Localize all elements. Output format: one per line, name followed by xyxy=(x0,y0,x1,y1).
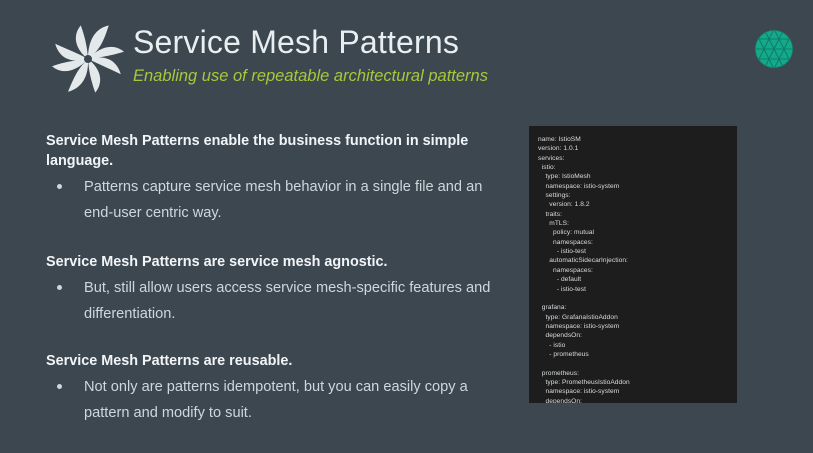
code-line: name: IstioSM xyxy=(538,135,737,144)
code-line: namespaces: xyxy=(538,238,737,247)
bullet-list: Not only are patterns idempotent, but yo… xyxy=(46,374,496,426)
title-block: Service Mesh Patterns Enabling use of re… xyxy=(133,22,488,88)
code-line: traits: xyxy=(538,210,737,219)
code-line xyxy=(538,359,737,368)
content-block-3: Service Mesh Patterns are reusable. Not … xyxy=(46,351,496,426)
code-line: prometheus: xyxy=(538,369,737,378)
code-line xyxy=(538,294,737,303)
code-line: istio: xyxy=(538,163,737,172)
bullet-list: Patterns capture service mesh behavior i… xyxy=(46,174,496,226)
content-column: Service Mesh Patterns enable the busines… xyxy=(46,131,496,426)
list-item: Not only are patterns idempotent, but yo… xyxy=(46,374,496,426)
slide-header: Service Mesh Patterns Enabling use of re… xyxy=(0,0,813,108)
lead-statement: Service Mesh Patterns enable the busines… xyxy=(46,131,496,171)
bullet-dot-icon xyxy=(57,285,62,290)
code-line: - prometheus xyxy=(538,350,737,359)
yaml-code-panel: name: IstioSMversion: 1.0.1services: ist… xyxy=(529,126,737,403)
code-line: type: IstioMesh xyxy=(538,172,737,181)
code-line: type: PrometheusIstioAddon xyxy=(538,378,737,387)
code-line: dependsOn: xyxy=(538,397,737,403)
spacer xyxy=(46,226,496,252)
code-line: type: GrafanaIstioAddon xyxy=(538,313,737,322)
lead-statement: Service Mesh Patterns are reusable. xyxy=(46,351,496,371)
code-line: - istio-test xyxy=(538,247,737,256)
code-line: - default xyxy=(538,275,737,284)
bullet-list: But, still allow users access service me… xyxy=(46,275,496,327)
code-line: namespaces: xyxy=(538,266,737,275)
lead-statement: Service Mesh Patterns are service mesh a… xyxy=(46,252,496,272)
code-line: version: 1.8.2 xyxy=(538,200,737,209)
code-line: settings: xyxy=(538,191,737,200)
yaml-code-lines: name: IstioSMversion: 1.0.1services: ist… xyxy=(529,126,737,403)
slide-canvas: Service Mesh Patterns Enabling use of re… xyxy=(0,0,813,453)
pinwheel-star-logo-icon xyxy=(48,19,128,99)
code-line: - istio-test xyxy=(538,285,737,294)
list-item-text: But, still allow users access service me… xyxy=(84,280,490,322)
list-item: But, still allow users access service me… xyxy=(46,275,496,327)
code-line: policy: mutual xyxy=(538,228,737,237)
bullet-dot-icon xyxy=(57,384,62,389)
code-line: namespace: istio-system xyxy=(538,182,737,191)
content-block-2: Service Mesh Patterns are service mesh a… xyxy=(46,252,496,327)
bullet-dot-icon xyxy=(57,184,62,189)
list-item-text: Patterns capture service mesh behavior i… xyxy=(84,179,482,221)
list-item: Patterns capture service mesh behavior i… xyxy=(46,174,496,226)
spacer xyxy=(46,327,496,351)
code-line: dependsOn: xyxy=(538,331,737,340)
code-line: namespace: istio-system xyxy=(538,322,737,331)
istio-sphere-icon xyxy=(749,24,799,74)
list-item-text: Not only are patterns idempotent, but yo… xyxy=(84,379,468,421)
page-subtitle: Enabling use of repeatable architectural… xyxy=(133,64,488,88)
code-line: grafana: xyxy=(538,303,737,312)
code-line: mTLS: xyxy=(538,219,737,228)
code-line: services: xyxy=(538,154,737,163)
code-line: namespace: istio-system xyxy=(538,387,737,396)
content-block-1: Service Mesh Patterns enable the busines… xyxy=(46,131,496,226)
code-line: version: 1.0.1 xyxy=(538,144,737,153)
page-title: Service Mesh Patterns xyxy=(133,22,488,62)
code-line: - istio xyxy=(538,341,737,350)
code-line: automaticSidecarInjection: xyxy=(538,256,737,265)
